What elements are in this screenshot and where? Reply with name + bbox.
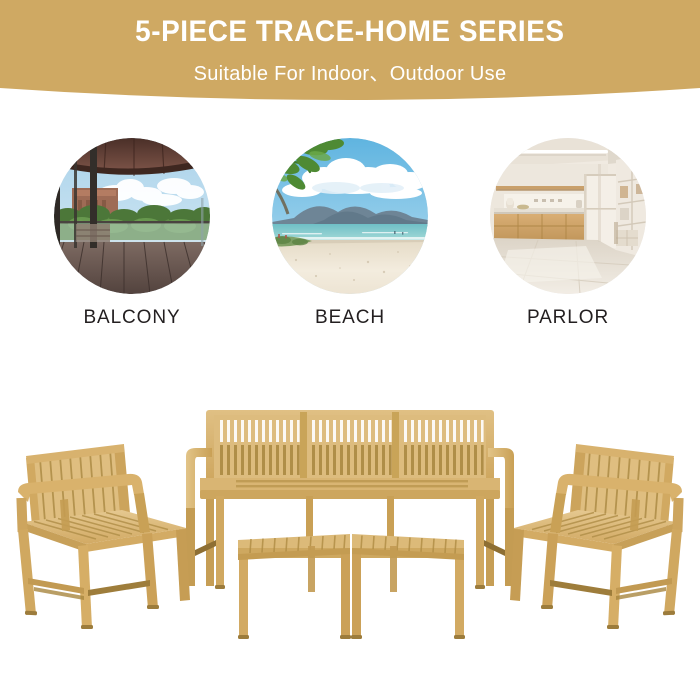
bench-back-panels (214, 412, 486, 484)
banner-text-block: 5-PIECE TRACE-HOME SERIES Suitable For I… (0, 0, 700, 100)
beach-photo-icon (272, 138, 428, 294)
parlor-photo-circle (490, 138, 646, 294)
scene-label-beach: BEACH (315, 307, 385, 329)
scene-item-beach[interactable]: BEACH (272, 138, 428, 329)
armchair-left[interactable] (16, 444, 190, 629)
scene-item-balcony[interactable]: BALCONY (54, 138, 210, 329)
product-furniture-set (0, 382, 700, 662)
beach-photo-circle (272, 138, 428, 294)
scene-label-parlor: PARLOR (527, 307, 609, 329)
scene-item-parlor[interactable]: PARLOR (490, 138, 646, 329)
page-subtitle: Suitable For Indoor、Outdoor Use (194, 57, 507, 86)
parlor-photo-icon (490, 138, 646, 294)
furniture-illustration (0, 382, 700, 662)
scene-gallery: BALCONY (0, 138, 700, 338)
coffee-table-left[interactable] (238, 534, 351, 639)
page-title: 5-PIECE TRACE-HOME SERIES (135, 15, 564, 50)
armchair-right[interactable] (510, 444, 684, 629)
coffee-table-right[interactable] (351, 534, 465, 639)
scene-label-balcony: BALCONY (83, 307, 180, 329)
header-banner: 5-PIECE TRACE-HOME SERIES Suitable For I… (0, 0, 700, 108)
balcony-photo-icon (54, 138, 210, 294)
balcony-photo-circle (54, 138, 210, 294)
